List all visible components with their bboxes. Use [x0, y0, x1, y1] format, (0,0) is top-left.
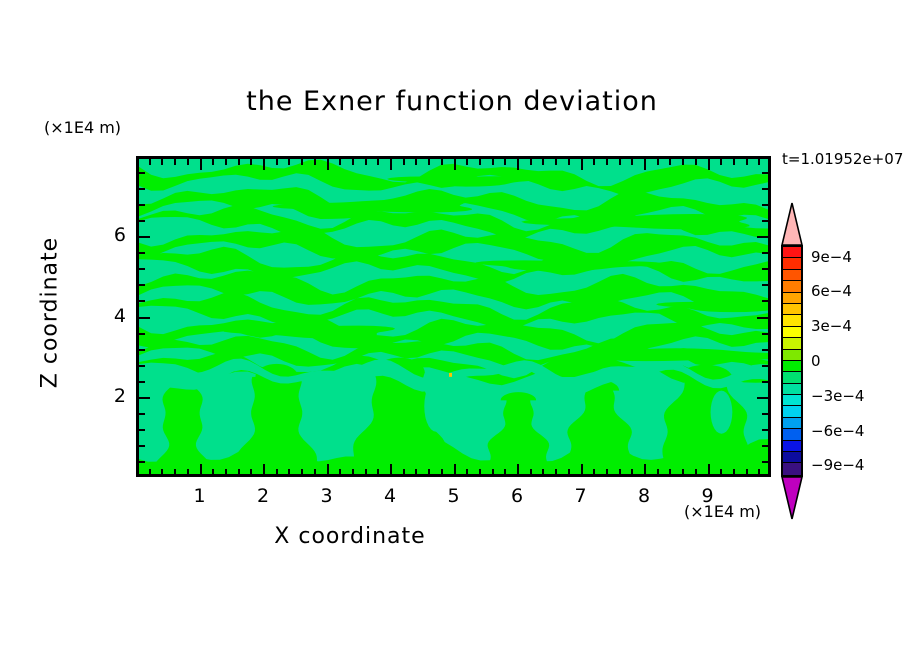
- x-tick-top: [403, 157, 405, 165]
- colorbar-tick-label: −3e−4: [811, 387, 864, 405]
- figure-canvas: the Exner function deviation (×1E4 m) (×…: [0, 0, 904, 654]
- x-tick: [250, 469, 252, 477]
- x-tick-top: [212, 157, 214, 165]
- x-tick-top: [631, 157, 633, 165]
- colorbar-over-cap: [781, 202, 803, 246]
- x-tick: [263, 464, 265, 477]
- x-tick-top: [276, 157, 278, 165]
- x-tick-top: [581, 157, 583, 170]
- x-tick-top: [530, 157, 532, 165]
- x-tick-label: 3: [312, 485, 342, 507]
- x-tick-top: [174, 157, 176, 165]
- x-tick: [339, 469, 341, 477]
- x-tick: [530, 469, 532, 477]
- x-tick-top: [619, 157, 621, 165]
- x-tick-top: [238, 157, 240, 165]
- x-tick-top: [200, 157, 202, 170]
- y-tick: [137, 204, 145, 206]
- x-tick-top: [161, 157, 163, 165]
- x-tick-top: [479, 157, 481, 165]
- x-tick: [238, 469, 240, 477]
- colorbar-under-cap: [781, 476, 803, 520]
- x-tick-top: [555, 157, 557, 165]
- x-tick: [200, 464, 202, 477]
- x-tick: [504, 469, 506, 477]
- x-tick: [479, 469, 481, 477]
- x-tick: [682, 469, 684, 477]
- y-tick-right: [762, 284, 770, 286]
- contour-plot-area: [136, 156, 771, 477]
- y-tick-right: [762, 220, 770, 222]
- contour-field: [139, 159, 768, 474]
- x-tick-top: [301, 157, 303, 165]
- colorbar-band: [783, 395, 801, 406]
- x-tick: [314, 469, 316, 477]
- x-tick-label: 9: [693, 485, 723, 507]
- colorbar-band: [783, 293, 801, 304]
- x-tick: [746, 469, 748, 477]
- x-tick-top: [250, 157, 252, 165]
- x-tick-top: [606, 157, 608, 165]
- y-tick: [137, 220, 145, 222]
- y-tick-right: [762, 413, 770, 415]
- x-tick: [327, 464, 329, 477]
- x-tick-top: [314, 157, 316, 165]
- x-tick: [542, 469, 544, 477]
- x-tick: [593, 469, 595, 477]
- y-tick: [137, 333, 145, 335]
- x-tick: [466, 469, 468, 477]
- x-tick-top: [352, 157, 354, 165]
- colorbar-tick-label: 3e−4: [811, 317, 852, 335]
- x-tick-top: [415, 157, 417, 165]
- x-tick-label: 2: [248, 485, 278, 507]
- colorbar-band: [783, 463, 801, 474]
- x-tick: [517, 464, 519, 477]
- x-tick-top: [593, 157, 595, 165]
- x-tick-top: [466, 157, 468, 165]
- colorbar-tick-label: 0: [811, 352, 821, 370]
- x-tick-top: [390, 157, 392, 170]
- y-tick: [137, 397, 150, 399]
- x-tick-top: [327, 157, 329, 170]
- x-tick-top: [263, 157, 265, 170]
- y-tick: [137, 300, 145, 302]
- colorbar-band: [783, 384, 801, 395]
- x-tick-label: 1: [185, 485, 215, 507]
- x-tick: [441, 469, 443, 477]
- y-tick-right: [757, 317, 770, 319]
- x-tick: [428, 469, 430, 477]
- y-tick: [137, 349, 145, 351]
- x-axis-title: X coordinate: [0, 524, 700, 549]
- contour-patch: [628, 369, 656, 428]
- x-tick: [644, 464, 646, 477]
- x-tick-top: [657, 157, 659, 165]
- x-tick: [174, 469, 176, 477]
- colorbar-band: [783, 315, 801, 326]
- x-tick-top: [669, 157, 671, 165]
- x-tick: [352, 469, 354, 477]
- colorbar-band: [783, 304, 801, 315]
- y-tick-right: [757, 236, 770, 238]
- y-tick-right: [762, 381, 770, 383]
- colorbar-band: [783, 372, 801, 383]
- y-tick-right: [762, 188, 770, 190]
- colorbar-band: [783, 258, 801, 269]
- x-tick: [669, 469, 671, 477]
- x-tick: [758, 469, 760, 477]
- x-tick-label: 7: [566, 485, 596, 507]
- y-tick-label: 6: [100, 224, 126, 246]
- x-tick: [492, 469, 494, 477]
- colorbar-band: [783, 418, 801, 429]
- timestamp-annotation: t=1.01952e+07: [782, 150, 903, 168]
- colorbar-bands: [781, 245, 803, 477]
- contour-patch: [302, 381, 322, 420]
- x-tick: [187, 469, 189, 477]
- colorbar-band: [783, 350, 801, 361]
- y-tick: [137, 284, 145, 286]
- y-tick-label: 4: [100, 305, 126, 327]
- x-tick-top: [149, 157, 151, 165]
- x-tick-top: [365, 157, 367, 165]
- x-tick-top: [542, 157, 544, 165]
- x-tick-top: [758, 157, 760, 165]
- colorbar-band: [783, 429, 801, 440]
- x-tick-label: 4: [375, 485, 405, 507]
- y-tick: [137, 317, 150, 319]
- y-tick-right: [762, 349, 770, 351]
- x-tick-top: [644, 157, 646, 170]
- colorbar-band: [783, 338, 801, 349]
- colorbar-band: [783, 247, 801, 258]
- x-tick-top: [568, 157, 570, 165]
- contour-patch: [424, 381, 448, 432]
- x-tick-top: [454, 157, 456, 170]
- colorbar-tick-label: 9e−4: [811, 248, 852, 266]
- x-tick: [403, 469, 405, 477]
- y-tick-right: [762, 268, 770, 270]
- x-tick-label: 8: [629, 485, 659, 507]
- colorbar-band: [783, 452, 801, 463]
- x-tick: [708, 464, 710, 477]
- y-tick-right: [762, 300, 770, 302]
- y-tick-right: [762, 365, 770, 367]
- x-tick-top: [682, 157, 684, 165]
- y-tick-right: [757, 397, 770, 399]
- x-tick-top: [428, 157, 430, 165]
- y-tick-right: [762, 429, 770, 431]
- y-tick-right: [762, 204, 770, 206]
- x-tick-top: [441, 157, 443, 165]
- x-tick: [377, 469, 379, 477]
- colorbar-band: [783, 406, 801, 417]
- x-tick: [161, 469, 163, 477]
- x-tick: [555, 469, 557, 477]
- x-tick: [288, 469, 290, 477]
- colorbar-tick-label: −9e−4: [811, 456, 864, 474]
- x-tick-top: [504, 157, 506, 165]
- y-tick-right: [762, 172, 770, 174]
- colorbar: 9e−46e−43e−40−3e−4−6e−4−9e−4: [781, 203, 803, 519]
- x-tick-top: [708, 157, 710, 170]
- y-tick-right: [762, 252, 770, 254]
- x-tick-label: 5: [439, 485, 469, 507]
- x-tick-top: [377, 157, 379, 165]
- x-tick-top: [339, 157, 341, 165]
- x-tick: [619, 469, 621, 477]
- colorbar-band: [783, 441, 801, 452]
- x-tick: [149, 469, 151, 477]
- colorbar-tick-label: 6e−4: [811, 282, 852, 300]
- y-axis-title: Z coordinate: [38, 223, 63, 403]
- x-tick: [301, 469, 303, 477]
- x-tick: [581, 464, 583, 477]
- y-tick: [137, 188, 145, 190]
- contour-patch: [711, 391, 733, 434]
- x-tick-top: [720, 157, 722, 165]
- x-tick: [276, 469, 278, 477]
- x-tick-top: [187, 157, 189, 165]
- x-tick: [657, 469, 659, 477]
- colorbar-band: [783, 281, 801, 292]
- y-tick-right: [762, 461, 770, 463]
- x-tick: [568, 469, 570, 477]
- x-tick-top: [492, 157, 494, 165]
- x-tick: [415, 469, 417, 477]
- y-tick-label: 2: [100, 385, 126, 407]
- x-tick: [212, 469, 214, 477]
- x-tick: [365, 469, 367, 477]
- y-tick: [137, 252, 145, 254]
- y-tick-right: [762, 333, 770, 335]
- colorbar-tick-label: −6e−4: [811, 422, 864, 440]
- x-tick-top: [288, 157, 290, 165]
- y-tick-right: [762, 445, 770, 447]
- y-tick: [137, 236, 150, 238]
- y-tick: [137, 461, 145, 463]
- y-tick: [137, 429, 145, 431]
- x-tick: [720, 469, 722, 477]
- x-tick-top: [225, 157, 227, 165]
- y-tick: [137, 172, 145, 174]
- x-tick-top: [517, 157, 519, 170]
- x-tick: [733, 469, 735, 477]
- x-tick: [606, 469, 608, 477]
- x-tick: [454, 464, 456, 477]
- y-tick: [137, 365, 145, 367]
- y-tick: [137, 268, 145, 270]
- x-tick-top: [733, 157, 735, 165]
- x-tick-label: 6: [502, 485, 532, 507]
- x-tick: [631, 469, 633, 477]
- y-tick: [137, 413, 145, 415]
- y-tick: [137, 381, 145, 383]
- colorbar-band: [783, 270, 801, 281]
- x-tick-top: [746, 157, 748, 165]
- colorbar-band: [783, 361, 801, 372]
- x-tick-top: [695, 157, 697, 165]
- chart-title: the Exner function deviation: [0, 86, 904, 117]
- x-tick: [695, 469, 697, 477]
- x-tick: [390, 464, 392, 477]
- x-tick: [225, 469, 227, 477]
- y-axis-unit-label: (×1E4 m): [44, 118, 121, 137]
- colorbar-band: [783, 327, 801, 338]
- y-tick: [137, 445, 145, 447]
